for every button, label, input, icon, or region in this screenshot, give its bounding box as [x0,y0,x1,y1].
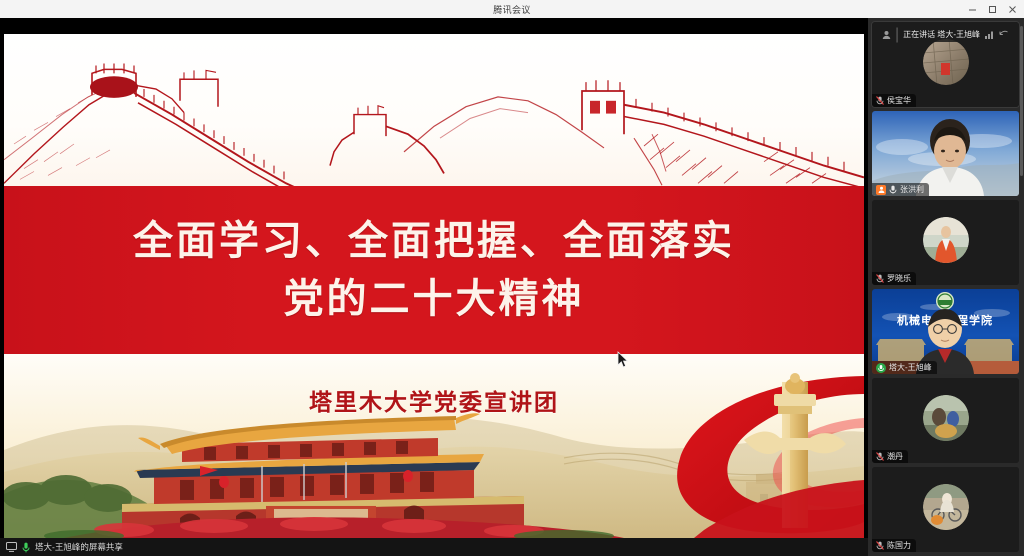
avatar [923,484,969,530]
host-badge-icon [876,185,886,195]
avatar [923,39,969,85]
microphone-icon [889,185,897,194]
screen-share-icon [6,542,17,552]
avatar [923,217,969,263]
microphone-muted-icon [876,452,884,461]
shared-slide[interactable]: 全面学习、全面把握、全面落实 党的二十大精神 [4,34,864,538]
microphone-muted-icon [876,274,884,283]
participant-tile-1[interactable]: | 正在讲话 塔大-王旭峰 侯宝华 [872,22,1019,107]
slide-top-artwork [4,34,864,186]
microphone-icon [876,363,886,373]
tiananmen-scene-icon [4,354,864,538]
participant-namebar: 罗晓乐 [872,272,916,285]
shared-screen-stage[interactable]: 全面学习、全面把握、全面落实 党的二十大精神 [0,18,868,556]
share-status-text: 塔大-王旭峰的屏幕共享 [35,541,123,553]
avatar [923,395,969,441]
slide-subtitle: 塔里木大学党委宣讲团 [4,383,864,417]
close-icon [1008,5,1017,14]
minimize-icon [968,5,977,14]
participant-namebar: 塔大-王旭峰 [872,361,937,374]
participant-tile-3[interactable]: 罗晓乐 [872,200,1019,285]
participant-name: 张洪利 [900,184,924,195]
participant-name: 陈国力 [887,540,911,551]
window-titlebar: 腾讯会议 [0,0,1024,18]
tencent-meeting-window: 腾讯会议 [0,0,1024,556]
minimize-button[interactable] [962,0,982,18]
collapse-arrow-icon[interactable] [999,30,1009,39]
participant-name: 侯宝华 [887,95,911,106]
participant-rail[interactable]: | 正在讲话 塔大-王旭峰 侯宝华 [868,18,1024,556]
microphone-muted-icon [876,96,884,105]
participant-name: 罗晓乐 [887,273,911,284]
signal-bars-icon [985,30,995,39]
participant-rail-scrollbar[interactable] [1020,18,1024,556]
maximize-button[interactable] [982,0,1002,18]
banner-actions [985,30,1009,39]
participant-tile-5[interactable]: 潮丹 [872,378,1019,463]
participant-tile-2[interactable]: 张洪利 [872,111,1019,196]
participant-namebar: 潮丹 [872,450,908,463]
participant-name: 塔大-王旭峰 [889,362,932,373]
participant-tile-4[interactable]: 机械电气工程学院 [872,289,1019,374]
slide-title-band: 全面学习、全面把握、全面落实 党的二十大精神 [4,186,864,354]
microphone-icon [22,542,30,553]
share-status-bar: 塔大-王旭峰的屏幕共享 [0,538,868,556]
speaking-banner: | 正在讲话 塔大-王旭峰 [877,27,1014,42]
participant-tile-6[interactable]: 陈国力 [872,467,1019,552]
participant-namebar: 张洪利 [872,183,929,196]
window-controls [962,0,1022,18]
participant-namebar: 侯宝华 [872,94,916,107]
maximize-icon [988,5,997,14]
participant-name: 潮丹 [887,451,903,462]
participant-namebar: 陈国力 [872,539,916,552]
speaking-label: 正在讲话 塔大-王旭峰 [903,29,980,40]
speaker-avatar-icon [882,30,891,39]
slide-title-line-1: 全面学习、全面把握、全面落实 [133,218,735,264]
great-wall-line-art-icon [4,36,864,186]
app-title: 腾讯会议 [493,3,531,16]
slide-bottom-artwork: 塔里木大学党委宣讲团 [4,354,864,538]
scrollbar-thumb[interactable] [1020,26,1023,176]
close-button[interactable] [1002,0,1022,18]
slide-title-line-2: 党的二十大精神 [284,276,585,322]
microphone-muted-icon [876,541,884,550]
